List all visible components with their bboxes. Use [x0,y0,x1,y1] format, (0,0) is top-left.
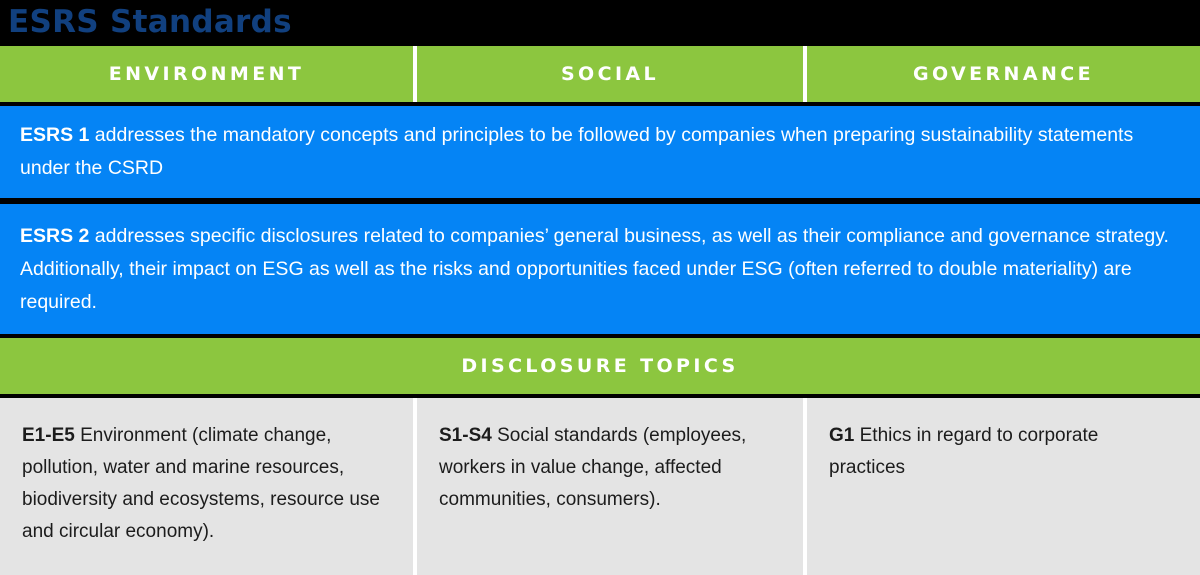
page-title: ESRS Standards [0,7,292,38]
esrs-2-description: addresses specific disclosures related t… [20,225,1169,313]
esrs-1-block: ESRS 1 addresses the mandatory concepts … [0,106,1200,198]
topic-description-governance: Ethics in regard to corporate practices [829,425,1098,478]
disclosure-topics-row: E1-E5 Environment (climate change, pollu… [0,398,1200,575]
topic-code-environment: E1-E5 [22,425,75,446]
pillar-label-environment: ENVIRONMENT [109,63,305,85]
topic-cell-governance: G1 Ethics in regard to corporate practic… [807,398,1200,575]
esrs-2-block: ESRS 2 addresses specific disclosures re… [0,204,1200,334]
esrs-2-text: ESRS 2 addresses specific disclosures re… [20,220,1180,319]
pillar-label-governance: GOVERNANCE [913,63,1094,85]
disclosure-topics-band: DISCLOSURE TOPICS [0,338,1200,394]
pillar-header-row: ENVIRONMENT SOCIAL GOVERNANCE [0,46,1200,102]
esrs-1-text: ESRS 1 addresses the mandatory concepts … [20,119,1180,185]
topic-text-governance: G1 Ethics in regard to corporate practic… [829,420,1178,484]
title-bar: ESRS Standards [0,0,1200,46]
topic-cell-environment: E1-E5 Environment (climate change, pollu… [0,398,413,575]
esrs-1-description: addresses the mandatory concepts and pri… [20,124,1133,179]
pillar-header-environment: ENVIRONMENT [0,46,413,102]
topic-code-social: S1-S4 [439,425,492,446]
pillar-label-social: SOCIAL [561,63,659,85]
pillar-header-social: SOCIAL [417,46,803,102]
topic-description-environment: Environment (climate change, pollution, … [22,425,380,542]
topic-text-social: S1-S4 Social standards (employees, worke… [439,420,781,516]
topic-cell-social: S1-S4 Social standards (employees, worke… [417,398,803,575]
disclosure-topics-label: DISCLOSURE TOPICS [461,355,738,377]
esrs-standards-infographic: ESRS Standards ENVIRONMENT SOCIAL GOVERN… [0,0,1200,575]
esrs-2-code: ESRS 2 [20,225,89,247]
topic-code-governance: G1 [829,425,854,446]
topic-text-environment: E1-E5 Environment (climate change, pollu… [22,420,391,548]
pillar-header-governance: GOVERNANCE [807,46,1200,102]
esrs-1-code: ESRS 1 [20,124,89,146]
